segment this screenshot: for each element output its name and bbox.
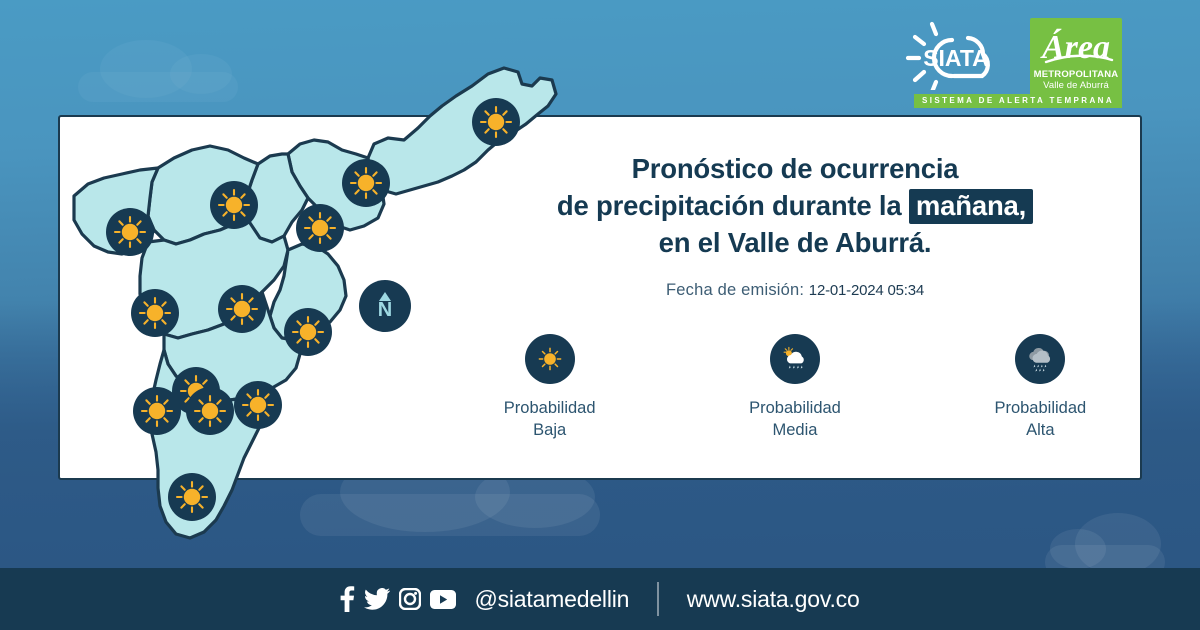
legend-label-line1: Probabilidad (749, 397, 841, 419)
legend-label-line2: Alta (994, 419, 1086, 441)
title-line-2-text: de precipitación durante la (557, 190, 909, 221)
area-script-icon: Área (1030, 20, 1122, 70)
marker-circle (234, 381, 282, 429)
instagram-icon[interactable] (399, 588, 421, 610)
legend-label: Probabilidad Alta (994, 397, 1086, 441)
legend-item-baja: Probabilidad Baja (470, 334, 629, 441)
sun-icon (210, 181, 258, 229)
legend-label-line1: Probabilidad (504, 397, 596, 419)
map-marker-caldas[interactable] (168, 473, 216, 521)
sun-icon (533, 342, 567, 376)
sun-icon (472, 98, 520, 146)
marker-circle (106, 208, 154, 256)
page-title: Pronóstico de ocurrencia de precipitació… (470, 150, 1120, 261)
map-marker-girardota[interactable] (342, 159, 390, 207)
area-metropolitana-logo: Área METROPOLITANA Valle de Aburrá (1030, 18, 1122, 96)
siata-logo: SIATA (894, 18, 1018, 90)
marker-circle (168, 473, 216, 521)
brand-logos: SIATA Área METROPOLITANA Valle de Aburrá (894, 18, 1122, 96)
map-marker-sabaneta[interactable] (186, 387, 234, 435)
social-handle[interactable]: @siatamedellin (474, 586, 629, 613)
map-marker-bello[interactable] (210, 181, 258, 229)
legend-icon-heavy-rain-cloud-icon (1015, 334, 1065, 384)
infographic-root: SIATA Área METROPOLITANA Valle de Aburrá… (0, 0, 1200, 630)
map-marker-san-antonio[interactable] (131, 289, 179, 337)
website-url[interactable]: www.siata.gov.co (687, 586, 860, 613)
twitter-icon[interactable] (364, 588, 390, 610)
sun-icon (133, 387, 181, 435)
map-marker-san-jeronimo[interactable] (106, 208, 154, 256)
legend-label: Probabilidad Baja (504, 397, 596, 441)
map-marker-la-estrella[interactable] (133, 387, 181, 435)
tagline-banner: SISTEMA DE ALERTA TEMPRANA (914, 94, 1122, 108)
probability-legend: Probabilidad Baja Probabilidad Media (470, 334, 1120, 441)
sun-icon (234, 381, 282, 429)
marker-circle (210, 181, 258, 229)
footer-divider (657, 582, 659, 616)
sun-icon (218, 285, 266, 333)
emission-label: Fecha de emisión: (666, 281, 804, 299)
sun-icon (131, 289, 179, 337)
social-icons (340, 586, 456, 612)
marker-circle (131, 289, 179, 337)
title-line-1: Pronóstico de ocurrencia (470, 150, 1120, 187)
sun-icon (106, 208, 154, 256)
emission-value: 12-01-2024 05:34 (809, 282, 924, 299)
forecast-content: Pronóstico de ocurrencia de precipitació… (470, 150, 1120, 441)
legend-label-line2: Baja (504, 419, 596, 441)
legend-label: Probabilidad Media (749, 397, 841, 441)
sun-icon (342, 159, 390, 207)
sun-rain-cloud-icon (778, 342, 812, 376)
youtube-icon[interactable] (430, 590, 456, 609)
marker-circle (342, 159, 390, 207)
legend-label-line2: Media (749, 419, 841, 441)
marker-circle (472, 98, 520, 146)
map-marker-barbosa[interactable] (472, 98, 520, 146)
map-marker-guarne[interactable] (284, 308, 332, 356)
area-logo-line1: METROPOLITANA (1034, 69, 1119, 80)
marker-circle (284, 308, 332, 356)
map-marker-medellin[interactable] (218, 285, 266, 333)
title-highlight-manana: mañana, (909, 189, 1033, 224)
sun-icon (284, 308, 332, 356)
map-marker-copacabana[interactable] (296, 204, 344, 252)
emission-date: Fecha de emisión: 12-01-2024 05:34 (470, 281, 1120, 300)
area-logo-line2: Valle de Aburrá (1043, 80, 1109, 91)
sun-icon (186, 387, 234, 435)
siata-logo-text: SIATA (923, 45, 989, 71)
sun-icon (296, 204, 344, 252)
marker-circle (186, 387, 234, 435)
heavy-rain-cloud-icon (1023, 342, 1057, 376)
compass-label: N (378, 300, 392, 320)
title-line-3: en el Valle de Aburrá. (470, 224, 1120, 261)
legend-item-media: Probabilidad Media (715, 334, 874, 441)
marker-circle (296, 204, 344, 252)
marker-circle (218, 285, 266, 333)
map-marker-envigado[interactable] (234, 381, 282, 429)
legend-icon-sun-icon (525, 334, 575, 384)
compass-rose: N (359, 280, 411, 332)
facebook-icon[interactable] (340, 586, 355, 612)
sun-icon (168, 473, 216, 521)
legend-icon-sun-rain-cloud-icon (770, 334, 820, 384)
legend-label-line1: Probabilidad (994, 397, 1086, 419)
title-line-2: de precipitación durante la mañana, (470, 187, 1120, 224)
marker-circle (133, 387, 181, 435)
legend-item-alta: Probabilidad Alta (961, 334, 1120, 441)
footer-bar: @siatamedellin www.siata.gov.co (0, 568, 1200, 630)
